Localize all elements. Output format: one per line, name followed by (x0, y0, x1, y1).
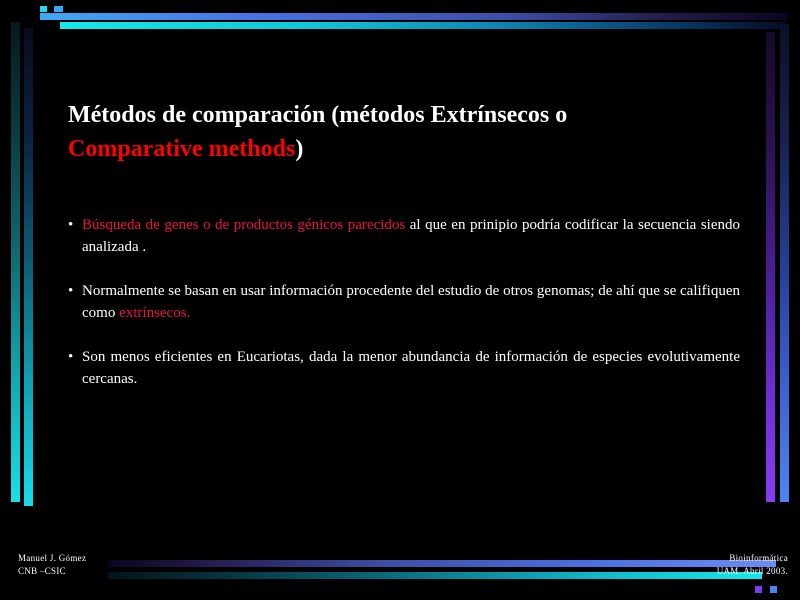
decor-bar-bottom-primary (108, 560, 776, 567)
decor-bar-bottom-secondary (108, 572, 762, 579)
decor-corner-square-bottom-right-b (770, 586, 777, 593)
footer-course: Bioinformática UAM. Abril 2003. (717, 552, 788, 578)
title-line-2: Comparative methods) (68, 132, 708, 166)
title-text-tail: ) (295, 136, 303, 162)
decor-corner-square-top-left-a (40, 6, 47, 12)
bullet-body-text: Son menos eficientes en Eucariotas, dada… (82, 349, 740, 387)
bullet-emphasis-text: Búsqueda de genes o de productos génicos… (82, 217, 405, 233)
bullet-item: • Búsqueda de genes o de productos génic… (68, 214, 740, 258)
footer-author-name: Manuel J. Gómez (18, 552, 86, 565)
title-text-plain: Métodos de comparación (métodos Extrínse… (68, 102, 567, 128)
presentation-slide: Métodos de comparación (métodos Extrínse… (0, 0, 800, 600)
decor-bar-left-primary (11, 22, 20, 502)
decor-corner-square-bottom-right-a (755, 586, 762, 593)
title-line-1: Métodos de comparación (métodos Extrínse… (68, 98, 708, 132)
bullet-item: • Normalmente se basan en usar informaci… (68, 280, 740, 324)
footer-author: Manuel J. Gómez CNB –CSIC (18, 552, 86, 578)
decor-bar-right-secondary (780, 24, 789, 502)
bullet-marker-icon: • (68, 280, 73, 302)
bullet-emphasis-text: extrínsecos. (119, 305, 190, 321)
footer-author-affiliation: CNB –CSIC (18, 565, 86, 578)
bullet-item: • Son menos eficientes en Eucariotas, da… (68, 346, 740, 412)
footer-course-date: UAM. Abril 2003. (717, 565, 788, 578)
decor-corner-square-top-left-b (54, 6, 63, 12)
decor-bar-right-primary (766, 32, 775, 502)
bullet-marker-icon: • (68, 214, 73, 236)
title-text-emphasis: Comparative methods (68, 136, 295, 162)
bullet-marker-icon: • (68, 346, 73, 368)
decor-bar-top-primary (40, 13, 788, 20)
footer-course-name: Bioinformática (717, 552, 788, 565)
slide-title: Métodos de comparación (métodos Extrínse… (68, 98, 708, 166)
decor-bar-top-secondary (60, 22, 786, 29)
slide-body: • Búsqueda de genes o de productos génic… (68, 214, 740, 412)
decor-bar-left-secondary (24, 28, 33, 506)
